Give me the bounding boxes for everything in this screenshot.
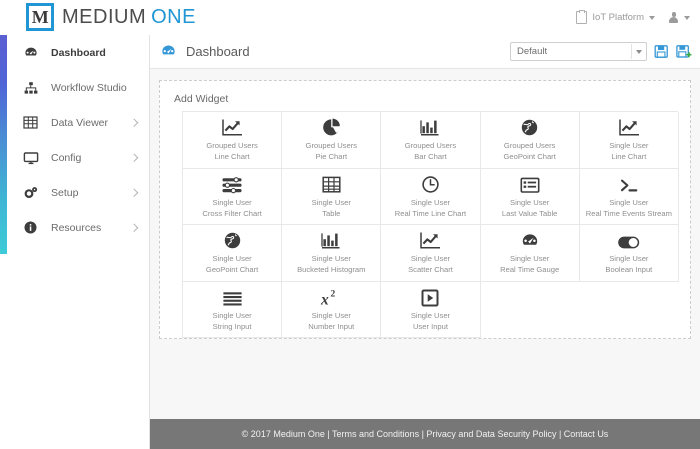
widget-grid-empty-cell xyxy=(481,282,580,339)
footer-text: © 2017 Medium One | Terms and Conditions… xyxy=(242,429,609,439)
sidebar-item-label: Dashboard xyxy=(51,47,106,59)
save-floppy-icon xyxy=(654,44,669,59)
app-root: M MEDIUMONE IoT Platform xyxy=(0,0,700,449)
platform-label: IoT Platform xyxy=(592,12,644,23)
chevron-down-icon xyxy=(636,50,642,54)
widget-tile[interactable]: Single UserLast Value Table xyxy=(481,169,580,226)
top-bar-right: IoT Platform xyxy=(576,0,690,35)
sidebar: Dashboard Workflow Studio Data Viewer xyxy=(0,35,150,449)
widget-type-label: User Input xyxy=(413,322,448,332)
sliders-icon xyxy=(221,174,243,194)
save-button[interactable] xyxy=(654,44,669,59)
widget-scope-label: Single User xyxy=(510,254,549,264)
widget-tile[interactable]: Single UserUser Input xyxy=(381,282,480,339)
dashboard-select-value: Default xyxy=(511,46,547,57)
list-box-icon xyxy=(520,174,540,194)
widget-scope-label: Single User xyxy=(312,311,351,321)
sidebar-item-resources[interactable]: Resources xyxy=(0,210,150,245)
line-chart-icon xyxy=(221,117,243,137)
widget-type-label: Scatter Chart xyxy=(408,265,453,275)
widget-tile[interactable]: Single UserTable xyxy=(282,169,381,226)
widget-scope-label: Single User xyxy=(212,198,251,208)
add-widget-title: Add Widget xyxy=(160,81,690,105)
widget-tile[interactable]: Single UserReal Time Gauge xyxy=(481,225,580,282)
widget-tile[interactable]: Single UserReal Time Events Stream xyxy=(580,169,679,226)
widget-type-label: Line Chart xyxy=(611,152,646,162)
chevron-right-icon xyxy=(131,175,137,210)
widget-scope-label: Single User xyxy=(212,254,251,264)
x-squared-icon: x2 xyxy=(319,287,343,307)
widget-type-label: Real Time Gauge xyxy=(500,265,559,275)
logo-mark-icon: M xyxy=(26,3,54,31)
dashboard-gauge-icon xyxy=(22,44,39,61)
play-box-icon xyxy=(421,287,439,307)
page-title: Dashboard xyxy=(186,44,250,59)
widget-tile[interactable]: Grouped UsersLine Chart xyxy=(183,112,282,169)
widget-scope-label: Single User xyxy=(411,311,450,321)
platform-selector[interactable]: IoT Platform xyxy=(576,11,655,24)
footer: © 2017 Medium One | Terms and Conditions… xyxy=(150,419,700,449)
widget-tile[interactable]: Single UserString Input xyxy=(183,282,282,339)
chevron-right-icon xyxy=(131,105,137,140)
sidebar-nav: Dashboard Workflow Studio Data Viewer xyxy=(0,35,150,245)
gauge-icon xyxy=(520,230,540,250)
table-grid-icon xyxy=(322,174,341,194)
user-menu[interactable] xyxy=(669,12,690,23)
widget-tile[interactable]: Grouped UsersGeoPoint Chart xyxy=(481,112,580,169)
widget-scope-label: Single User xyxy=(609,198,648,208)
brand-name-part1: MEDIUM xyxy=(62,6,146,28)
sidebar-item-workflow-studio[interactable]: Workflow Studio xyxy=(0,70,150,105)
gears-icon xyxy=(22,184,39,201)
widget-tile[interactable]: Single UserScatter Chart xyxy=(381,225,480,282)
widget-scope-label: Single User xyxy=(312,254,351,264)
widget-type-label: Line Chart xyxy=(215,152,250,162)
bar-chart-icon xyxy=(420,117,440,137)
add-widget-panel: Add Widget Grouped UsersLine ChartGroupe… xyxy=(159,80,691,339)
widget-scope-label: Single User xyxy=(411,254,450,264)
svg-text:x: x xyxy=(320,291,329,307)
widget-scope-label: Single User xyxy=(411,198,450,208)
widget-tile[interactable]: Grouped UsersBar Chart xyxy=(381,112,480,169)
widget-type-label: Pie Chart xyxy=(315,152,347,162)
page-header-left: Dashboard xyxy=(150,43,250,60)
widget-tile[interactable]: Single UserBucketed Histogram xyxy=(282,225,381,282)
widget-type-label: Cross Filter Chart xyxy=(202,209,262,219)
widget-scope-label: Single User xyxy=(212,311,251,321)
svg-text:2: 2 xyxy=(331,289,336,299)
globe-icon xyxy=(520,117,539,137)
widget-tile[interactable]: Single UserBoolean Input xyxy=(580,225,679,282)
widget-type-label: Last Value Table xyxy=(502,209,557,219)
terminal-icon xyxy=(618,174,640,194)
widget-scope-label: Grouped Users xyxy=(504,141,556,151)
widget-scope-label: Single User xyxy=(510,198,549,208)
widget-type-label: Boolean Input xyxy=(605,265,652,275)
lines-icon xyxy=(222,287,243,307)
widget-type-label: Real Time Events Stream xyxy=(586,209,672,219)
widget-scope-label: Grouped Users xyxy=(306,141,358,151)
sidebar-item-data-viewer[interactable]: Data Viewer xyxy=(0,105,150,140)
brand-logo[interactable]: M MEDIUMONE xyxy=(26,3,196,31)
dashboard-gauge-icon xyxy=(160,43,177,60)
dashboard-select[interactable]: Default xyxy=(510,42,647,61)
widget-type-label: GeoPoint Chart xyxy=(503,152,555,162)
logo-letter: M xyxy=(32,8,49,26)
sidebar-item-label: Setup xyxy=(51,187,78,199)
brand-name: MEDIUMONE xyxy=(62,6,196,29)
chevron-right-icon xyxy=(131,210,137,245)
select-divider xyxy=(631,44,632,59)
info-circle-icon xyxy=(22,219,39,236)
table-grid-icon xyxy=(22,114,39,131)
widget-type-label: Real Time Line Chart xyxy=(395,209,466,219)
widget-scope-label: Grouped Users xyxy=(206,141,258,151)
page-header: Dashboard Default xyxy=(150,35,700,69)
widget-tile[interactable]: Single UserLine Chart xyxy=(580,112,679,169)
widget-scope-label: Single User xyxy=(609,141,648,151)
clipboard-icon xyxy=(576,11,587,24)
clock-icon xyxy=(421,174,440,194)
widget-type-label: GeoPoint Chart xyxy=(206,265,258,275)
chevron-down-icon xyxy=(649,16,655,20)
sidebar-item-label: Workflow Studio xyxy=(51,82,127,94)
chevron-down-icon xyxy=(684,16,690,20)
widget-type-label: String Input xyxy=(213,322,252,332)
line-chart-icon xyxy=(419,230,441,250)
monitor-icon xyxy=(22,149,39,166)
brand-name-part2: ONE xyxy=(151,6,196,28)
line-chart-icon xyxy=(618,117,640,137)
widget-type-label: Bucketed Histogram xyxy=(297,265,365,275)
widget-type-label: Number Input xyxy=(308,322,354,332)
user-icon xyxy=(669,12,679,23)
widget-grid: Grouped UsersLine ChartGrouped UsersPie … xyxy=(182,111,678,338)
sidebar-item-label: Data Viewer xyxy=(51,117,108,129)
main-content: Dashboard Default xyxy=(150,35,700,449)
top-bar: M MEDIUMONE IoT Platform xyxy=(0,0,700,35)
widget-tile[interactable]: Grouped UsersPie Chart xyxy=(282,112,381,169)
sitemap-icon xyxy=(22,79,39,96)
widget-type-label: Bar Chart xyxy=(414,152,447,162)
widget-tile[interactable]: Single UserReal Time Line Chart xyxy=(381,169,480,226)
save-as-button[interactable] xyxy=(676,44,691,59)
sidebar-item-label: Config xyxy=(51,152,81,164)
sidebar-item-setup[interactable]: Setup xyxy=(0,175,150,210)
widget-grid-empty-cell xyxy=(580,282,679,339)
widget-scope-label: Grouped Users xyxy=(405,141,457,151)
widget-tile[interactable]: x2Single UserNumber Input xyxy=(282,282,381,339)
sidebar-item-dashboard[interactable]: Dashboard xyxy=(0,35,150,70)
sidebar-item-label: Resources xyxy=(51,222,101,234)
save-as-floppy-plus-icon xyxy=(676,44,692,59)
bar-chart-icon xyxy=(321,230,341,250)
widget-scope-label: Single User xyxy=(609,254,648,264)
page-header-actions: Default xyxy=(510,35,691,68)
chevron-right-icon xyxy=(131,140,137,175)
sidebar-item-config[interactable]: Config xyxy=(0,140,150,175)
toggle-icon xyxy=(617,230,641,250)
widget-tile[interactable]: Single UserGeoPoint Chart xyxy=(183,225,282,282)
widget-tile[interactable]: Single UserCross Filter Chart xyxy=(183,169,282,226)
widget-scope-label: Single User xyxy=(312,198,351,208)
globe-icon xyxy=(223,230,242,250)
pie-chart-icon xyxy=(322,117,341,137)
widget-type-label: Table xyxy=(322,209,340,219)
